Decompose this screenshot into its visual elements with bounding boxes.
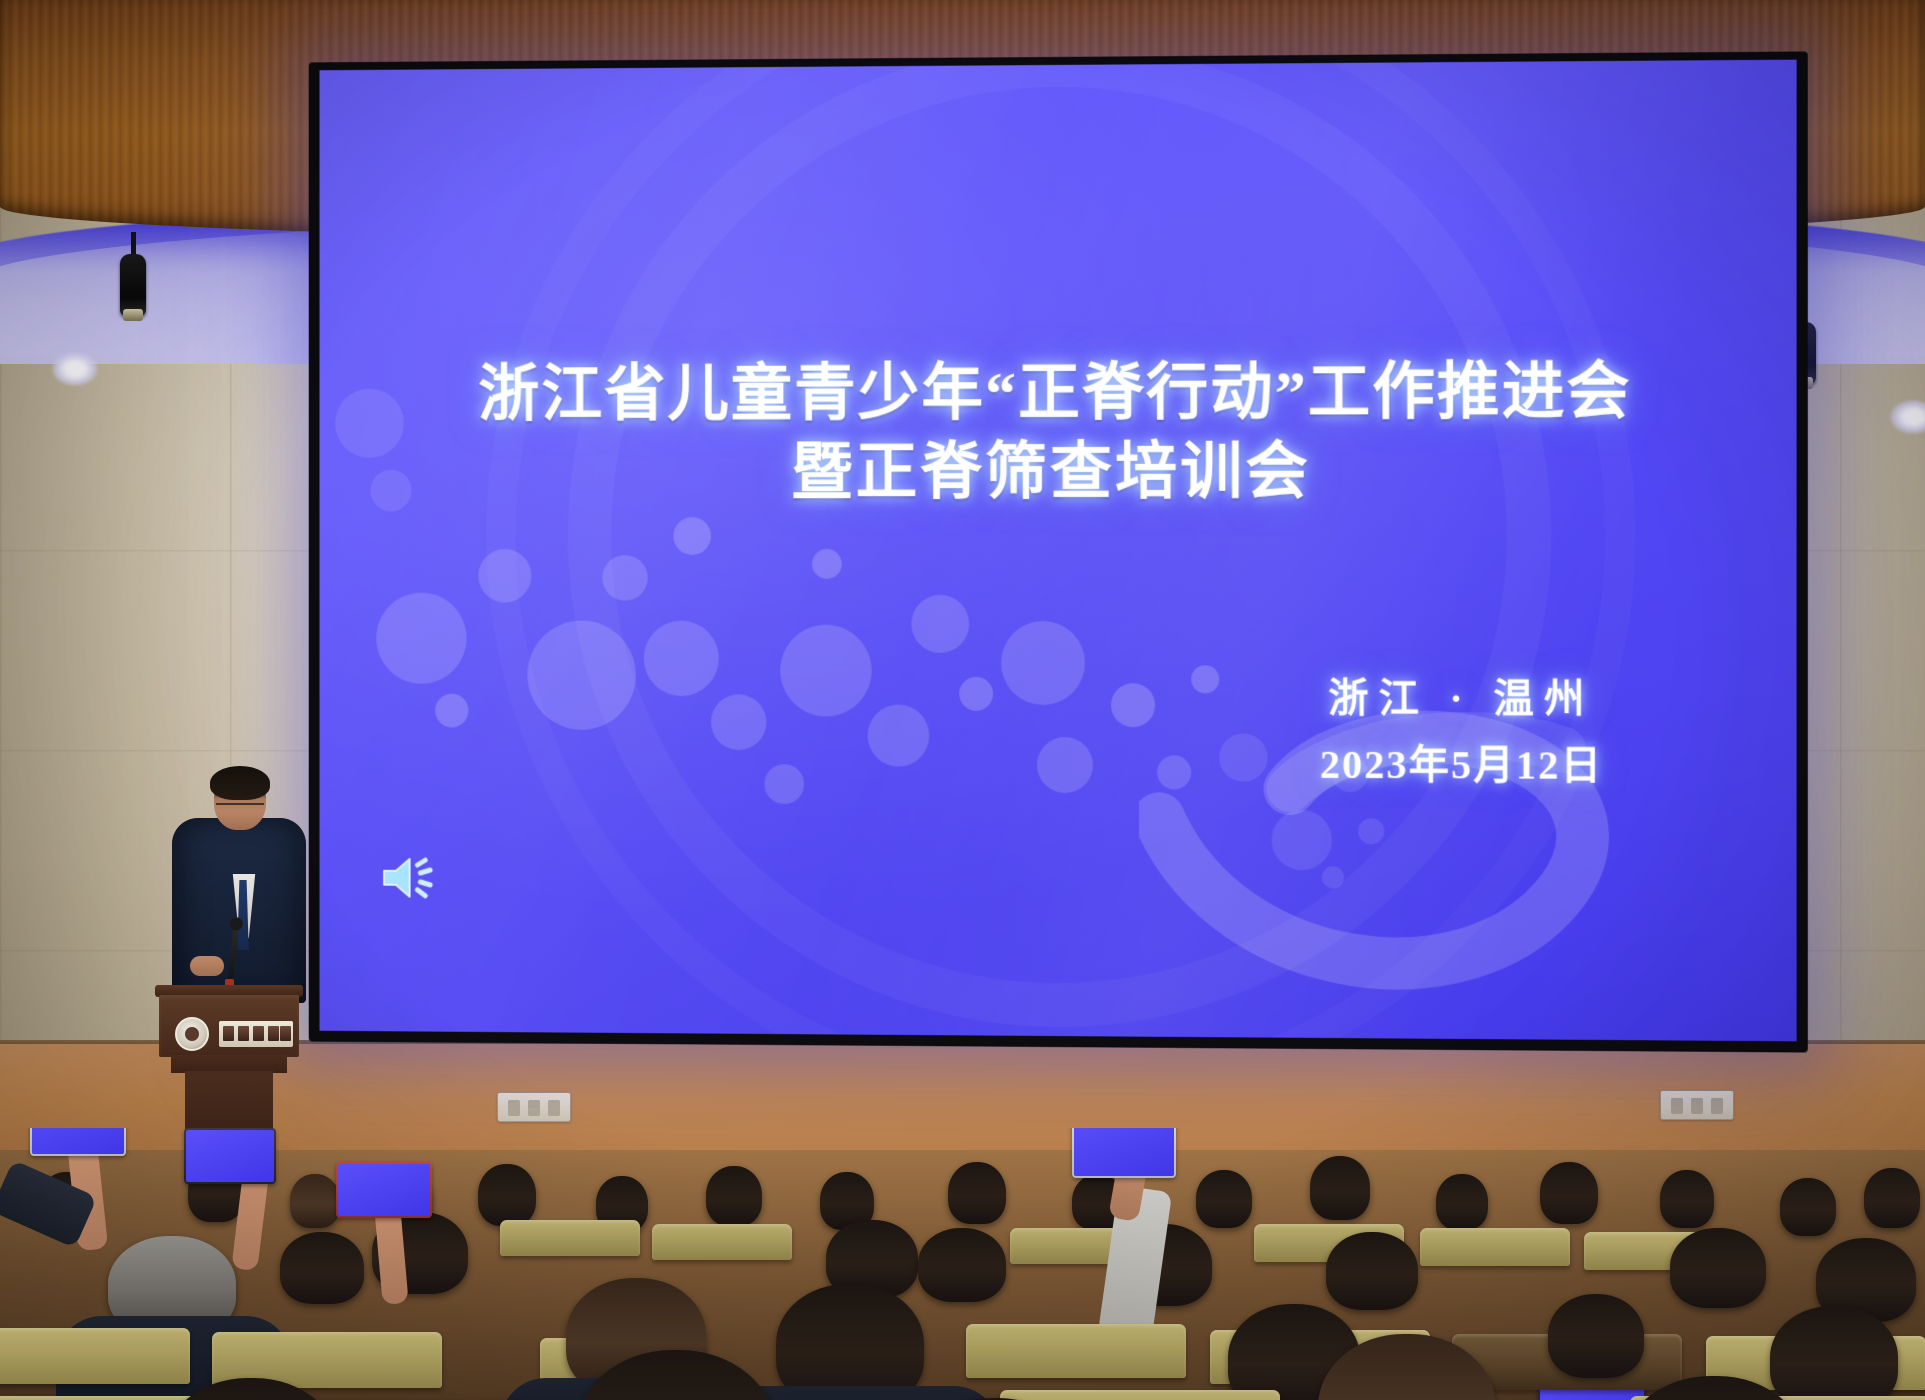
- slide-title: 浙江省儿童青少年“正脊行动”工作推进会 暨正脊筛查培训会: [320, 353, 1797, 514]
- slide-title-line-2: 暨正脊筛查培训会: [320, 433, 1797, 514]
- audience-head: [280, 1232, 364, 1304]
- slide-bokeh-dot: [376, 593, 466, 684]
- audience-head: [706, 1166, 762, 1226]
- seat-back: [652, 1224, 792, 1260]
- slide-bokeh-dot: [1272, 810, 1332, 870]
- audience-phone[interactable]: [184, 1128, 276, 1184]
- podium-front-panel: [159, 995, 299, 1057]
- seat-back: [966, 1324, 1186, 1378]
- slide-bokeh-dot: [868, 705, 930, 767]
- led-screen-frame: 浙江省儿童青少年“正脊行动”工作推进会 暨正脊筛查培训会 浙江 · 温州 202…: [309, 51, 1808, 1052]
- audience-phone[interactable]: [336, 1162, 432, 1218]
- audience-head: [1196, 1170, 1252, 1228]
- presenter-hand: [190, 956, 224, 976]
- podium-nameplate: [219, 1021, 293, 1047]
- slide-bokeh-dot: [959, 677, 993, 711]
- slide-bokeh-dot: [764, 764, 804, 804]
- slide-bokeh-dot: [711, 694, 766, 750]
- slide-bokeh-dot: [1037, 737, 1093, 793]
- presenter-at-podium: [168, 770, 308, 1000]
- wall-socket-left: [497, 1092, 571, 1122]
- slide-bokeh-dot: [780, 625, 871, 717]
- wall-socket-right: [1660, 1090, 1734, 1120]
- seat-back: [1420, 1228, 1570, 1266]
- slide-subtitle-block: 浙江 · 温州 2023年5月12日: [1320, 665, 1603, 790]
- audience-head: [1310, 1156, 1370, 1220]
- audience-head: [1780, 1178, 1836, 1236]
- presenter-hair: [210, 766, 270, 800]
- seat-back: [1000, 1390, 1280, 1400]
- audience-head: [1864, 1168, 1920, 1228]
- audience-head: [478, 1164, 536, 1226]
- screenshot-root: 浙江省儿童青少年“正脊行动”工作推进会 暨正脊筛查培训会 浙江 · 温州 202…: [0, 0, 1925, 1400]
- audience-head: [1548, 1294, 1644, 1378]
- slide-bokeh-dot: [911, 595, 969, 653]
- slide-bokeh-dot: [1322, 866, 1344, 888]
- seat-back: [500, 1220, 640, 1256]
- audience-head: [1670, 1228, 1766, 1308]
- slide-bokeh-dot: [1157, 755, 1191, 789]
- podium-emblem-icon: [175, 1017, 209, 1051]
- audience-head: [1436, 1174, 1488, 1230]
- audience-head: [1770, 1306, 1898, 1400]
- slide-bokeh-dot: [644, 621, 719, 697]
- audience-head: [918, 1228, 1006, 1302]
- audience-phone[interactable]: [1072, 1128, 1176, 1178]
- slide-bokeh-dot: [527, 620, 635, 729]
- slide-bokeh-dot: [1358, 818, 1384, 844]
- presentation-slide: 浙江省儿童青少年“正脊行动”工作推进会 暨正脊筛查培训会 浙江 · 温州 202…: [320, 60, 1797, 1042]
- audience-head: [776, 1284, 924, 1400]
- slide-bokeh-dot: [435, 694, 468, 728]
- audience-head: [290, 1174, 340, 1228]
- slide-bokeh-dot: [1111, 683, 1155, 727]
- presenter-glasses: [216, 803, 264, 813]
- slide-location: 浙江 · 温州: [1320, 665, 1603, 724]
- audience-head: [1540, 1162, 1598, 1224]
- audience-head: [1660, 1170, 1714, 1228]
- slide-bokeh-dot: [812, 549, 842, 579]
- slide-bokeh-dot: [478, 549, 531, 603]
- slide-bokeh-dot: [602, 555, 647, 601]
- volume-speaker-icon[interactable]: [380, 851, 439, 905]
- slide-bokeh-dot: [1219, 733, 1267, 781]
- presenter-suit: [172, 818, 306, 1003]
- slide-bokeh-dot: [1001, 621, 1085, 705]
- slide-bokeh-dot: [1191, 665, 1219, 693]
- slide-date: 2023年5月12日: [1320, 732, 1603, 791]
- audience-head: [948, 1162, 1006, 1224]
- stage-spotlight-1: [120, 232, 146, 328]
- seated-audience: [0, 1128, 1925, 1400]
- downlight-1: [52, 352, 98, 386]
- seat-back: [0, 1328, 190, 1384]
- audience-phone[interactable]: [30, 1128, 126, 1156]
- audience-head: [1326, 1232, 1418, 1310]
- slide-bokeh-dot: [673, 517, 711, 555]
- slide-title-line-1: 浙江省儿童青少年“正脊行动”工作推进会: [320, 353, 1797, 436]
